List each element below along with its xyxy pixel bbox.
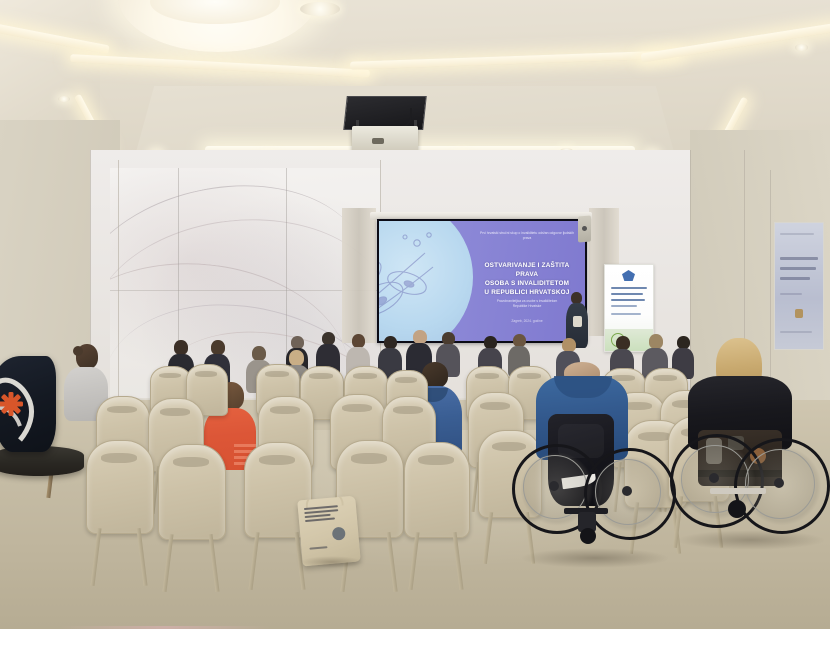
shadow xyxy=(300,556,364,568)
slide-title: OSTVARIVANJE I ZAŠTITA PRAVA OSOBA S INV… xyxy=(475,261,579,297)
chair xyxy=(158,444,224,538)
wheelchair-wheel xyxy=(584,448,676,540)
chair xyxy=(86,440,152,532)
shadow xyxy=(520,548,670,568)
wheelchair-user-blue-hoodie xyxy=(520,362,670,572)
slide-floral-artwork xyxy=(379,221,461,341)
bottom-white-band xyxy=(0,629,830,651)
wall-poster-partial xyxy=(774,222,824,350)
tote-logo-icon xyxy=(332,527,346,541)
slide-title-line-2: OSOBA S INVALIDITETOM xyxy=(475,279,579,288)
wheelchair-castor xyxy=(580,528,596,544)
bag-graphic xyxy=(0,356,56,452)
ceiling-projector xyxy=(352,126,418,152)
slide-author-line-2: Republike Hrvatske xyxy=(475,304,579,309)
wall-seam xyxy=(118,160,119,402)
presenter-papers xyxy=(573,316,582,327)
downlight xyxy=(795,44,808,51)
screenshot-root: Prvi hrvatski stručni skup o invaliditet… xyxy=(0,0,830,651)
shadow xyxy=(676,530,826,550)
tote-printed-text xyxy=(304,505,339,524)
wheelchair-castor xyxy=(728,500,746,518)
slide-top-line: Prvi hrvatski stručni skup o invaliditet… xyxy=(477,231,577,241)
projector-lens xyxy=(372,138,384,144)
curtain xyxy=(342,208,376,343)
projection-screen: Prvi hrvatski stručni skup o invaliditet… xyxy=(377,219,587,343)
ceiling-vent xyxy=(300,2,340,16)
conference-room-photo: Prvi hrvatski stručni skup o invaliditet… xyxy=(0,0,830,629)
wheelchair-user-blonde xyxy=(674,338,824,554)
wheelchair-footplate xyxy=(710,488,766,494)
presentation-slide: Prvi hrvatski stručni skup o invaliditet… xyxy=(379,221,585,341)
slide-title-line-3: U REPUBLICI HRVATSKOJ xyxy=(475,288,579,297)
wheelchair-wheel xyxy=(734,438,830,534)
slide-title-line-1: OSTVARIVANJE I ZAŠTITA PRAVA xyxy=(475,261,579,279)
projector-cable xyxy=(380,108,412,128)
organization-logo-icon xyxy=(622,270,635,281)
chair xyxy=(404,442,468,536)
speaker-driver xyxy=(582,226,587,231)
foreground-bag xyxy=(0,356,56,452)
downlight xyxy=(58,96,70,102)
slide-author: Pravobraniteljica za osobe s invaliditet… xyxy=(475,299,579,308)
slide-date: Zagreb, 2024. godine xyxy=(475,319,579,323)
